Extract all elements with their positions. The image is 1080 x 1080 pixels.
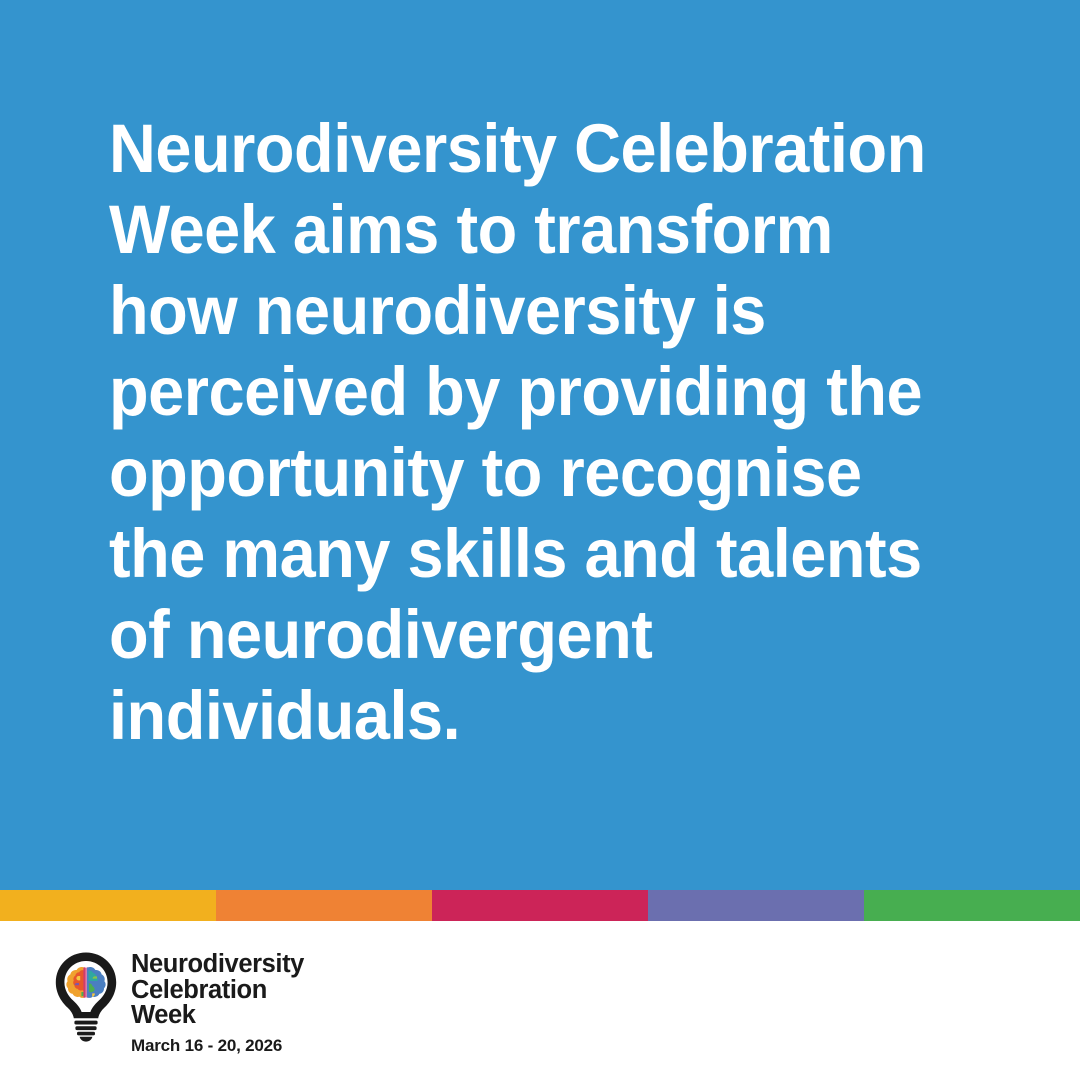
hero-panel: Neurodiversity Celebration Week aims to … xyxy=(0,0,1080,890)
stripe-green xyxy=(864,890,1080,921)
logo-date-range: March 16 - 20, 2026 xyxy=(131,1037,304,1054)
stripe-yellow xyxy=(0,890,216,921)
stripe-orange xyxy=(216,890,432,921)
logo-line-neurodiversity: Neurodiversity xyxy=(131,952,304,978)
logo-line-week: Week xyxy=(131,1003,304,1029)
logo-wordmark: Neurodiversity Celebration Week March 16… xyxy=(131,950,304,1054)
stripe-purple xyxy=(648,890,864,921)
color-stripe-band xyxy=(0,890,1080,921)
logo-lockup: Neurodiversity Celebration Week March 16… xyxy=(52,950,304,1054)
footer-bar: Neurodiversity Celebration Week March 16… xyxy=(0,921,1080,1080)
poster-canvas: Neurodiversity Celebration Week aims to … xyxy=(0,0,1080,1080)
lightbulb-brain-icon xyxy=(52,950,120,1042)
page-headline: Neurodiversity Celebration Week aims to … xyxy=(109,108,955,756)
stripe-pink xyxy=(432,890,648,921)
logo-line-celebration: Celebration xyxy=(131,978,304,1004)
